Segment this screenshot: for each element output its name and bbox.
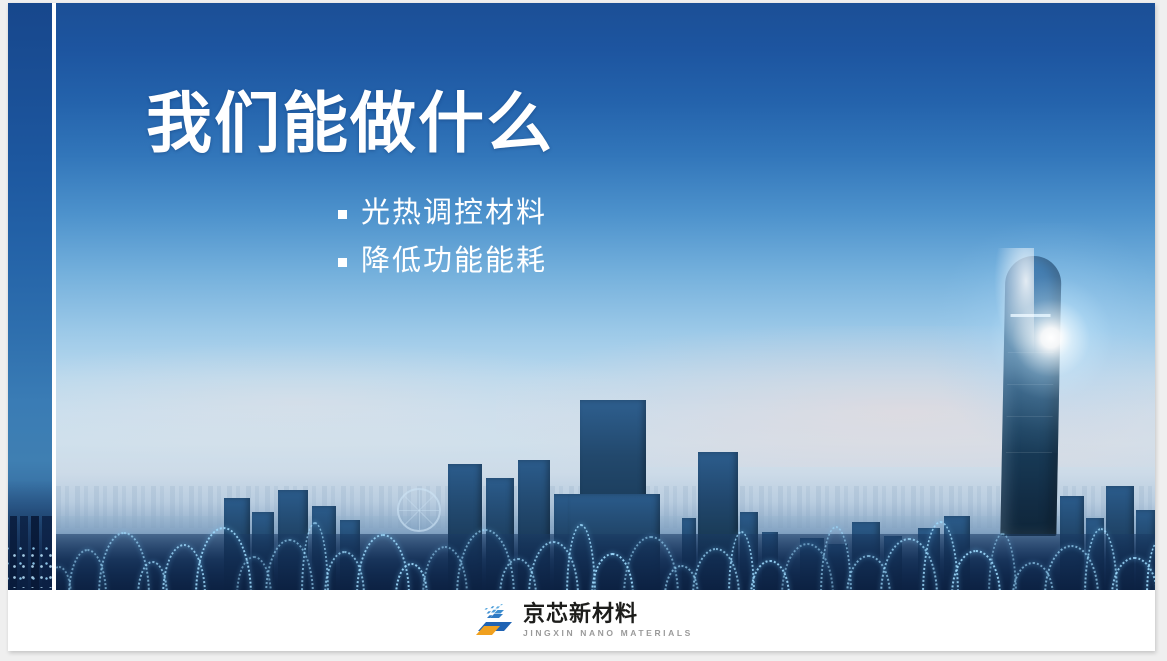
vertical-divider-line (52, 3, 56, 590)
logo-english-name: JINGXIN NANO MATERIALS (523, 629, 693, 638)
ferris-spoke-vertical (419, 490, 420, 530)
logo-text-group: 京芯新材料 JINGXIN NANO MATERIALS (523, 603, 693, 638)
ferris-wheel-icon (397, 488, 441, 532)
list-item: 光热调控材料 (338, 195, 547, 232)
square-bullet-icon (338, 258, 347, 267)
ferris-spoke-horizontal (399, 510, 439, 511)
list-item-label: 光热调控材料 (361, 195, 547, 232)
slide-frame: 我们能做什么 光热调控材料 降低功能能耗 (8, 3, 1155, 651)
list-item: 降低功能能耗 (338, 243, 547, 280)
logo-chinese-name: 京芯新材料 (523, 603, 693, 625)
curved-skyscraper (1000, 256, 1061, 536)
slide-footer: 京芯新材料 JINGXIN NANO MATERIALS (8, 590, 1155, 651)
horizon-haze-left (56, 343, 660, 460)
list-item-label: 降低功能能耗 (361, 243, 547, 280)
background-left-strip (8, 3, 52, 590)
company-logo: 京芯新材料 JINGXIN NANO MATERIALS (474, 603, 693, 638)
foreground-ground (56, 534, 1155, 590)
square-bullet-icon (338, 210, 347, 219)
page-title: 我们能做什么 (146, 85, 554, 163)
jingxin-logo-mark-icon (474, 604, 514, 637)
strip-glow-dots (8, 546, 52, 588)
bullet-list: 光热调控材料 降低功能能耗 (338, 195, 547, 291)
